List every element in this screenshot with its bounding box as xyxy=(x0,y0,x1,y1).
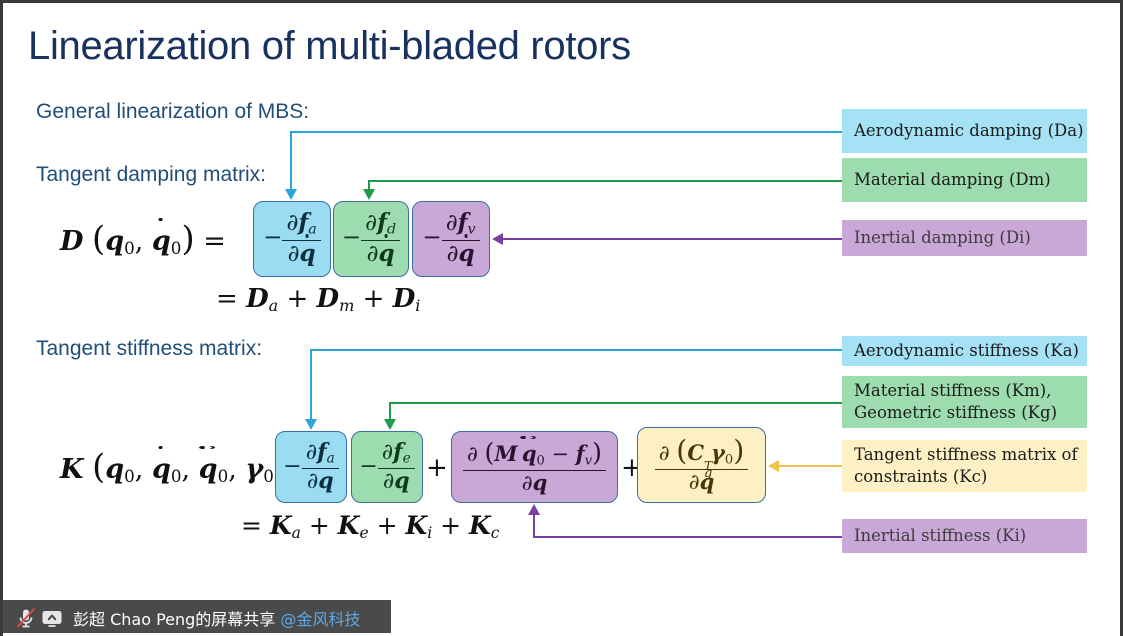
damping-term-aerodynamic-expr: −∂fa∂q xyxy=(263,210,321,267)
legend-inertial-stiffness[interactable]: Inertial stiffness (Ki) xyxy=(842,519,1087,553)
connector-kc-arrowhead xyxy=(768,460,779,472)
connector-ki-vertical xyxy=(533,514,535,537)
zoom-share-bar: 彭超 Chao Peng的屏幕共享 @金风科技 xyxy=(3,600,391,636)
legend-aerodynamic-damping[interactable]: Aerodynamic damping (Da) xyxy=(842,109,1087,153)
section-label-general: General linearization of MBS: xyxy=(36,100,309,124)
connector-ki-arrowhead xyxy=(528,504,540,515)
page-title: Linearization of multi-bladed rotors xyxy=(28,25,631,67)
connector-ka-vertical xyxy=(310,349,312,421)
connector-ka-arrowhead xyxy=(305,419,317,430)
legend-material-stiffness-line2: Geometric stiffness (Kg) xyxy=(854,402,1087,424)
damping-term-material[interactable]: −∂fd∂q xyxy=(333,201,409,277)
connector-dm-arrowhead xyxy=(363,189,375,200)
stiffness-term-constraints[interactable]: ∂ (CTqγ0)∂q xyxy=(637,427,766,503)
stiffness-equation-sum: = Ka + Ke + Ki + Kc xyxy=(241,511,499,542)
damping-term-material-expr: −∂fd∂q xyxy=(342,210,400,267)
stiffness-plus-1: + xyxy=(426,453,448,483)
slide-canvas: Linearization of multi-bladed rotors Gen… xyxy=(0,0,1123,636)
share-organization-text: @金风科技 xyxy=(280,606,360,630)
connector-km-horizontal xyxy=(389,402,842,404)
legend-constraint-stiffness-line2: constraints (Kc) xyxy=(854,466,1087,488)
stiffness-term-constraints-expr: ∂ (CTqγ0)∂q xyxy=(655,435,749,494)
legend-constraint-stiffness-line1: Tangent stiffness matrix of xyxy=(854,444,1087,466)
microphone-muted-icon[interactable] xyxy=(13,605,39,631)
stiffness-term-elastic[interactable]: −∂fe∂q xyxy=(351,431,423,503)
connector-di-horizontal xyxy=(502,238,842,240)
connector-da-vertical xyxy=(290,131,292,191)
connector-da-arrowhead xyxy=(285,189,297,200)
connector-ka-horizontal xyxy=(310,349,842,351)
stiffness-term-aerodynamic-expr: −∂fa∂q xyxy=(283,440,338,494)
legend-material-damping[interactable]: Material damping (Dm) xyxy=(842,158,1087,202)
legend-material-stiffness[interactable]: Material stiffness (Km), Geometric stiff… xyxy=(842,376,1087,428)
legend-inertial-damping-label: Inertial damping (Di) xyxy=(854,227,1087,249)
damping-term-aerodynamic[interactable]: −∂fa∂q xyxy=(253,201,331,277)
damping-equation-sum: = Da + Dm + Di xyxy=(216,284,420,315)
share-status-text: 彭超 Chao Peng的屏幕共享 xyxy=(73,606,275,630)
screen-share-icon[interactable] xyxy=(39,605,65,631)
stiffness-term-inertial[interactable]: ∂ (M q0 − fv)∂q xyxy=(451,431,618,503)
legend-inertial-damping[interactable]: Inertial damping (Di) xyxy=(842,220,1087,256)
legend-aerodynamic-stiffness[interactable]: Aerodynamic stiffness (Ka) xyxy=(842,336,1087,366)
legend-material-damping-label: Material damping (Dm) xyxy=(854,169,1087,191)
damping-term-inertial[interactable]: −∂fv∂q xyxy=(412,201,490,277)
connector-di-arrowhead xyxy=(492,233,503,245)
connector-ki-horizontal xyxy=(533,536,842,538)
damping-equation-lhs: D (q0, q0) = xyxy=(60,219,226,258)
section-label-damping: Tangent damping matrix: xyxy=(36,163,266,187)
legend-constraint-stiffness[interactable]: Tangent stiffness matrix of constraints … xyxy=(842,440,1087,492)
stiffness-term-aerodynamic[interactable]: −∂fa∂q xyxy=(275,431,347,503)
legend-inertial-stiffness-label: Inertial stiffness (Ki) xyxy=(854,525,1087,547)
connector-km-arrowhead xyxy=(384,419,396,430)
legend-material-stiffness-line1: Material stiffness (Km), xyxy=(854,380,1087,402)
stiffness-term-inertial-expr: ∂ (M q0 − fv)∂q xyxy=(463,439,606,495)
legend-aerodynamic-stiffness-label: Aerodynamic stiffness (Ka) xyxy=(854,340,1087,362)
connector-dm-horizontal xyxy=(368,180,842,182)
connector-kc-horizontal xyxy=(778,465,842,467)
damping-term-inertial-expr: −∂fv∂q xyxy=(422,210,479,267)
legend-aerodynamic-damping-label: Aerodynamic damping (Da) xyxy=(854,120,1087,142)
stiffness-term-elastic-expr: −∂fe∂q xyxy=(359,440,414,494)
section-label-stiffness: Tangent stiffness matrix: xyxy=(36,337,262,361)
connector-da-horizontal xyxy=(290,131,842,133)
